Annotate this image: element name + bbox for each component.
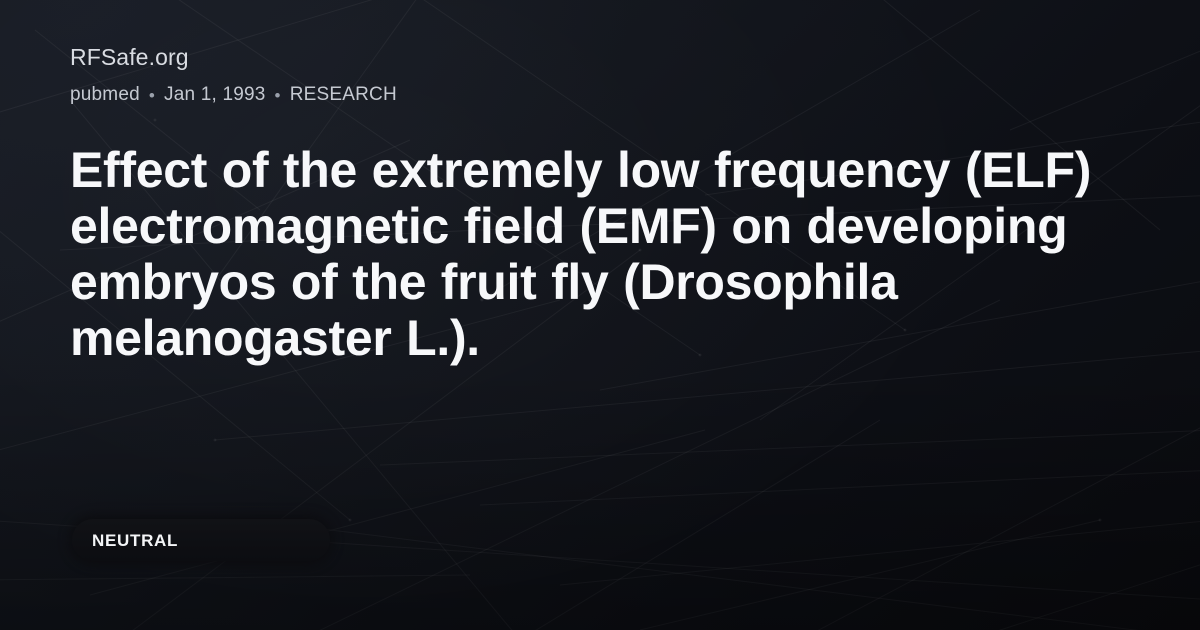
card-content: RFSafe.org pubmed • Jan 1, 1993 • RESEAR… xyxy=(70,0,1145,630)
meta-row: pubmed • Jan 1, 1993 • RESEARCH xyxy=(70,84,397,106)
meta-separator-icon: • xyxy=(149,87,155,104)
meta-category: RESEARCH xyxy=(290,84,397,106)
status-badge-label: NEUTRAL xyxy=(92,532,178,549)
status-badge: NEUTRAL xyxy=(70,516,332,564)
page-title: Effect of the extremely low frequency (E… xyxy=(70,142,1135,366)
meta-date: Jan 1, 1993 xyxy=(164,84,266,106)
social-share-card: RFSafe.org pubmed • Jan 1, 1993 • RESEAR… xyxy=(0,0,1200,630)
meta-separator-icon: • xyxy=(275,87,281,104)
site-name: RFSafe.org xyxy=(70,44,189,71)
meta-source: pubmed xyxy=(70,84,140,106)
status-badge-pill: NEUTRAL xyxy=(72,519,330,561)
